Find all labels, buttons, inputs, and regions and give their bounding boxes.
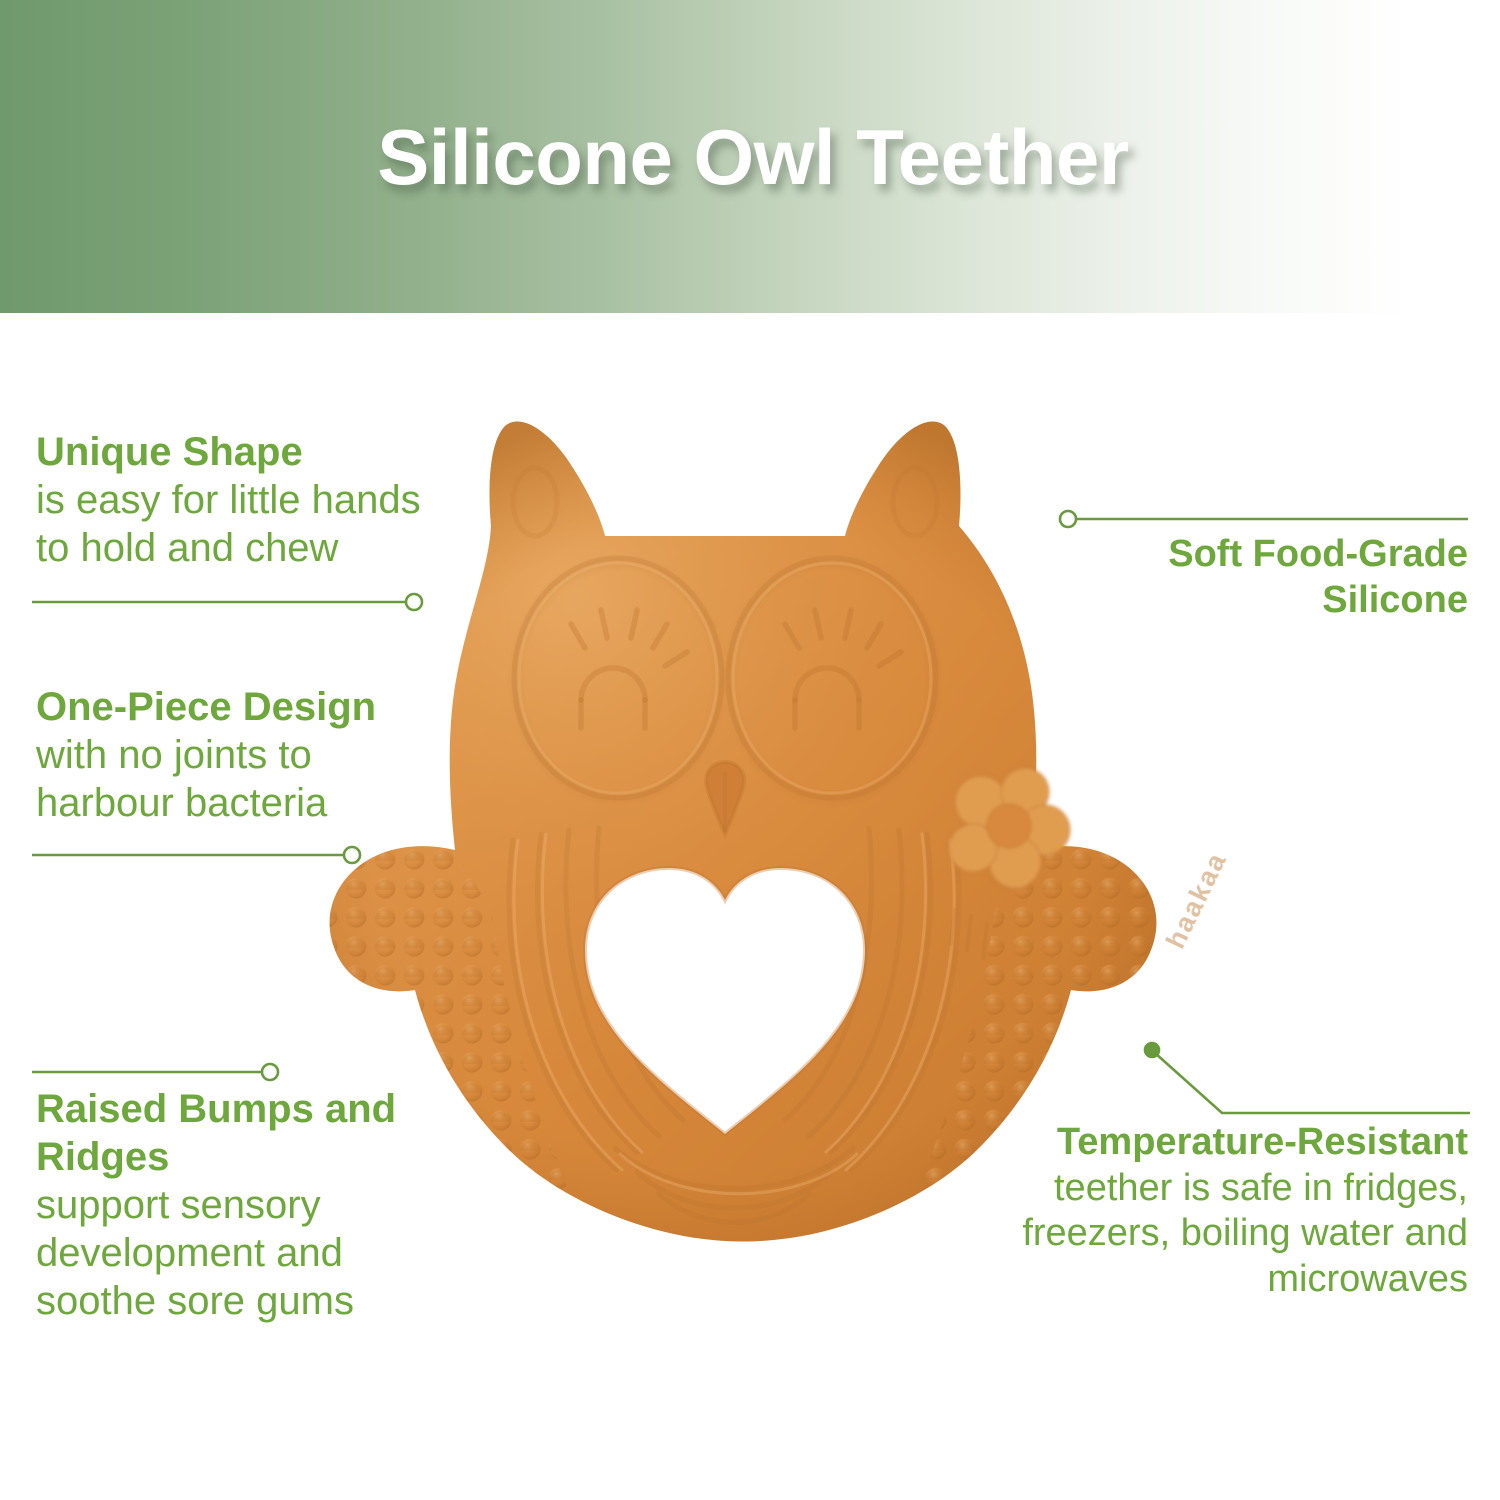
callout-unique-shape: Unique Shape is easy for little hands to… <box>36 428 456 572</box>
page-title: Silicone Owl Teether <box>0 112 1500 203</box>
callout-body: with no joints to harbour bacteria <box>36 731 436 827</box>
callout-soft-food-grade-silicone: Soft Food-Grade Silicone <box>1048 532 1468 623</box>
leader-line-temperature <box>1155 1053 1470 1113</box>
callout-body: support sensory development and soothe s… <box>36 1181 436 1325</box>
callout-title: Soft Food-Grade Silicone <box>1048 532 1468 623</box>
callout-body: teether is safe in fridges, freezers, bo… <box>998 1166 1468 1303</box>
callout-title: Unique Shape <box>36 428 456 476</box>
callout-one-piece-design: One-Piece Design with no joints to harbo… <box>36 683 436 827</box>
callout-temperature-resistant: Temperature-Resistant teether is safe in… <box>998 1120 1468 1302</box>
header-banner: Silicone Owl Teether <box>0 0 1500 313</box>
callout-title: One-Piece Design <box>36 683 436 731</box>
callout-body: is easy for little hands to hold and che… <box>36 476 456 572</box>
callout-title: Raised Bumps and Ridges <box>36 1085 436 1181</box>
callout-raised-bumps-and-ridges: Raised Bumps and Ridges support sensory … <box>36 1085 436 1325</box>
callout-title: Temperature-Resistant <box>998 1120 1468 1166</box>
